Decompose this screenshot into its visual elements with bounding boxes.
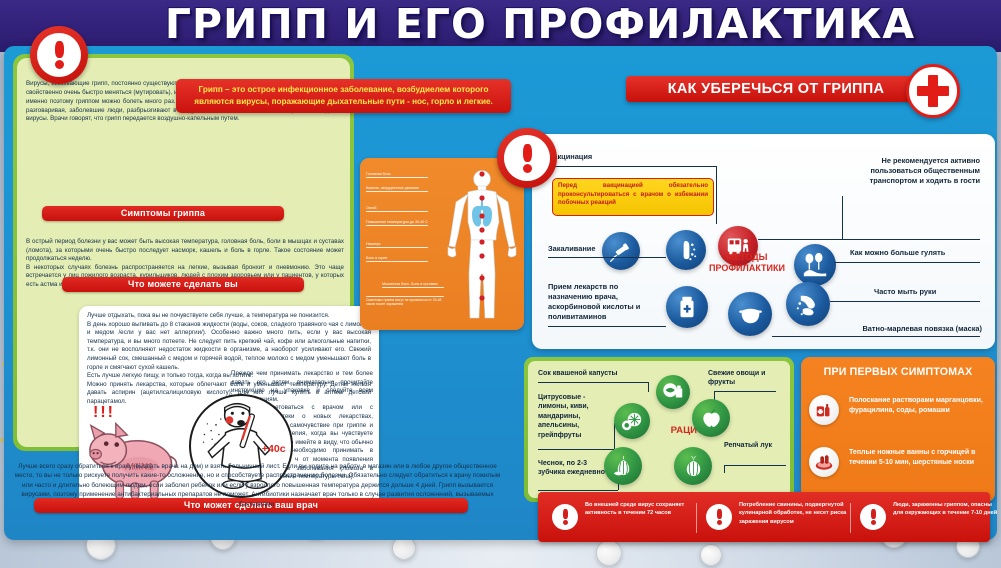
- human-body-diagram: [446, 168, 518, 324]
- exclamation-icon-fact-2: [706, 504, 732, 530]
- exclamation-icon-fact-3: [860, 504, 886, 530]
- mask-icon: [728, 292, 772, 336]
- exclamation-icon-fact-1: [552, 504, 578, 530]
- symptom-footnote: Симптомы гриппа могут не проявиться от 2…: [366, 296, 444, 307]
- fact-divider-1: [696, 503, 697, 533]
- exclamation-icon-center: [497, 128, 557, 188]
- vaccination-connector: [716, 166, 717, 224]
- symptom-label-runny-nose: Насморк: [366, 242, 428, 248]
- citrus-underline: [538, 449, 614, 450]
- header-symptoms: Симптомы гриппа: [42, 206, 284, 221]
- sauerkraut-underline: [538, 382, 648, 383]
- wash-hands-icon: [786, 282, 830, 326]
- temperature-label: +40c: [262, 443, 286, 455]
- definition-banner: Грипп – это острое инфекционное заболева…: [176, 79, 511, 113]
- doctor-advice-block: Лучше всего сразу обратиться к врачу (вы…: [10, 462, 505, 540]
- alert-marks: !!!: [93, 404, 115, 422]
- medical-cross-icon: [906, 64, 960, 118]
- symptom-body-panel: Головная боль Кашель, затрудненное дыхан…: [360, 158, 524, 330]
- fact-text-3: Люди, зараженны гриппом, опасны для окру…: [893, 501, 1001, 518]
- ration-panel: Сок квашеной капусты Цитрусовые - лимоны…: [524, 357, 794, 502]
- left-information-panel: Вирусы, вызывающие грипп, постоянно суще…: [13, 54, 354, 451]
- foot-bath-text: Теплые ножные ванны с горчицей в течении…: [849, 448, 991, 468]
- citrus-label: Цитрусовые - лимоны, киви, мандарины, ап…: [538, 393, 612, 440]
- poster-root: ГРИПП И ЕГО ПРОФИЛАКТИКА Вирусы, вызываю…: [0, 0, 1001, 568]
- foot-bath-icon: [809, 447, 839, 477]
- wash-hands-label: Часто мыть руки: [874, 287, 936, 297]
- first-symptoms-panel: ПРИ ПЕРВЫХ СИМПТОМАХ Полоскание раствора…: [801, 357, 995, 502]
- definition-banner-text: Грипп – это острое инфекционное заболева…: [176, 79, 511, 108]
- onion-icon: [674, 447, 712, 485]
- hardening-underline: [548, 257, 666, 258]
- wash-hands-underline: [830, 301, 980, 302]
- medicines-underline: [548, 326, 666, 327]
- fact-divider-2: [850, 503, 851, 533]
- hardening-label: Закаливание: [548, 244, 595, 254]
- cabbage-icon: [656, 375, 690, 409]
- walk-outdoors-label: Как можно больше гулять: [850, 248, 945, 258]
- vaccination-note-box: Перед вакцинацией обязательно проконсуль…: [552, 178, 714, 216]
- prevention-title: КАК УБЕРЕЧЬСЯ ОТ ГРИППА: [626, 76, 926, 102]
- onion-label: Репчатый лук: [724, 441, 784, 450]
- methods-title-line2: ПРОФИЛАКТИКИ: [692, 263, 802, 274]
- poster-title-band: ГРИПП И ЕГО ПРОФИЛАКТИКА: [0, 0, 1001, 52]
- tablet-decoration-7: [700, 544, 722, 566]
- fact-text-1: Во внешней среде вирус сохраняет активно…: [585, 501, 695, 518]
- garlic-underline: [538, 490, 618, 491]
- citrus-icon: [614, 403, 650, 439]
- exclamation-icon-left: [30, 26, 88, 84]
- methods-title-line1: МЕТОДЫ: [692, 252, 802, 263]
- walk-outdoors-underline: [834, 262, 980, 263]
- symptom-label-headache: Головная боль: [366, 172, 428, 178]
- symptom-label-cough: Кашель, затрудненное дыхание: [366, 186, 428, 192]
- human-body-svg: [446, 168, 518, 324]
- fresh-produce-underline: [714, 391, 776, 392]
- prevention-panel: Вакцинация Перед вакцинацией обязательно…: [532, 134, 995, 349]
- fact-item-2: Потребление свинины, подвергнутой кулина…: [706, 501, 851, 535]
- mask-label: Ватно-марлевая повязка (маска): [832, 324, 982, 334]
- pill-bottle-icon: [666, 286, 708, 328]
- apple-icon: [692, 399, 730, 437]
- ration-panel-inner: Сок квашеной капусты Цитрусовые - лимоны…: [528, 361, 790, 498]
- onion-underline: [724, 465, 786, 466]
- garlic-icon: [604, 447, 642, 485]
- fact-item-3: Люди, зараженны гриппом, опасны для окру…: [860, 501, 985, 535]
- doctor-advice-text: Лучше всего сразу обратиться к врачу (вы…: [10, 462, 505, 509]
- first-symptoms-title: ПРИ ПЕРВЫХ СИМПТОМАХ: [801, 366, 995, 378]
- facts-bar: Во внешней среде вирус сохраняет активно…: [538, 492, 990, 542]
- medicines-label: Прием лекарств по назначению врача, аско…: [548, 282, 660, 322]
- vaccination-label: Вакцинация: [548, 152, 658, 162]
- sauerkraut-connector: [648, 382, 649, 392]
- symptom-label-chills: Озноб: [366, 206, 428, 212]
- left-panel-inner: Вирусы, вызывающие грипп, постоянно суще…: [17, 58, 350, 447]
- avoid-transport-connector: [842, 196, 843, 239]
- symptom-label-muscle-pain: Мышечная боль. Боль в суставах: [382, 282, 444, 288]
- symptom-label-fever: Повышение температуры до 39-40 С: [366, 220, 428, 226]
- header-what-you-can-do: Что можете сделать вы: [62, 277, 304, 292]
- vaccination-underline: [548, 166, 716, 167]
- page-title: ГРИПП И ЕГО ПРОФИЛАКТИКА: [90, 0, 990, 50]
- avoid-transport-underline: [758, 239, 980, 240]
- mask-underline: [772, 336, 980, 337]
- fact-text-2: Потребление свинины, подвергнутой кулина…: [739, 501, 849, 526]
- sauerkraut-juice-label: Сок квашеной капусты: [538, 369, 618, 378]
- gargle-icon: [809, 395, 839, 425]
- fresh-produce-label: Свежие овощи и фрукты: [708, 369, 784, 388]
- symptom-label-sore-throat: Боль в горле: [366, 256, 428, 262]
- avoid-transport-label: Не рекомендуется активно пользоваться об…: [840, 156, 980, 186]
- gargle-text: Полоскание растворами марганцовки, фурац…: [849, 396, 991, 416]
- fact-item-1: Во внешней среде вирус сохраняет активно…: [552, 501, 697, 535]
- garlic-label: Чеснок, по 2-3 зубчика ежедневно: [538, 459, 612, 478]
- syringe-icon: [602, 232, 640, 270]
- methods-title: МЕТОДЫ ПРОФИЛАКТИКИ: [692, 252, 802, 273]
- onion-connector: [724, 465, 725, 473]
- vaccination-note-text: Перед вакцинацией обязательно проконсуль…: [553, 179, 713, 211]
- tablet-decoration-6: [596, 540, 622, 566]
